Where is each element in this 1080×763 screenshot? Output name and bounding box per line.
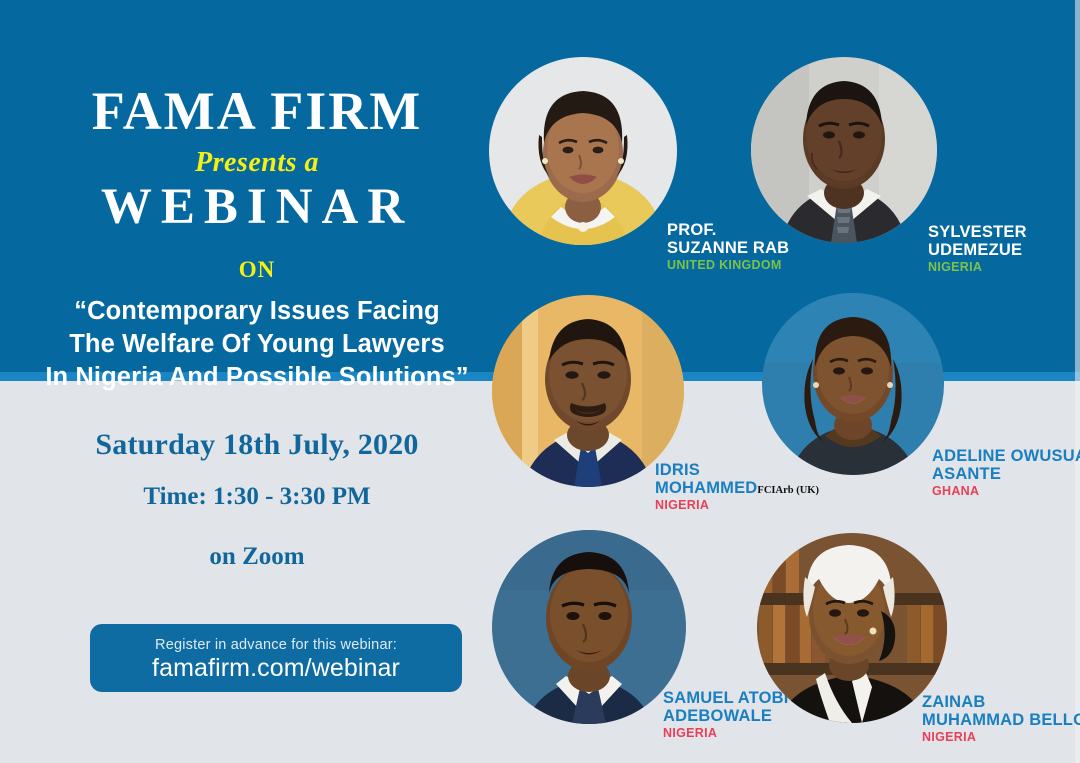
speaker-name-line2-sylvester-udemezue: UDEMEZUE [928, 242, 1027, 260]
caption-sylvester-udemezue: SYLVESTER UDEMEZUE NIGERIA [928, 224, 1027, 275]
event-type-title: WEBINAR [42, 181, 472, 235]
portrait-zainab-muhammad-bello-image [757, 533, 947, 723]
speaker-name-line2-adeline-owusua-asante: ASANTE [932, 466, 1080, 484]
portrait-adeline-owusua-asante-image [762, 293, 944, 475]
speaker-country-idris-mohammed: NIGERIA [655, 499, 819, 512]
event-date: Saturday 18th July, 2020 [42, 428, 472, 462]
webinar-topic: “Contemporary Issues Facing The Welfare … [42, 295, 472, 394]
portrait-samuel-atobi-adebowale [492, 530, 686, 724]
speaker-suffix-idris-mohammed: FCIArb (UK) [757, 485, 819, 496]
portrait-adeline-owusua-asante [762, 293, 944, 475]
speaker-name-line1-sylvester-udemezue: SYLVESTER [928, 224, 1027, 242]
speaker-name-suzanne-rab: SUZANNE RAB [667, 240, 789, 258]
speaker-country-suzanne-rab: UNITED KINGDOM [667, 259, 789, 272]
speaker-name-line2-samuel-atobi-adebowale: ADEBOWALE [663, 708, 789, 726]
portrait-suzanne-rab-image [489, 57, 677, 245]
speaker-title-suzanne-rab: PROF. [667, 222, 789, 240]
topic-line-2: The Welfare Of Young Lawyers [42, 328, 472, 361]
speaker-country-sylvester-udemezue: NIGERIA [928, 261, 1027, 274]
portrait-idris-mohammed [492, 295, 684, 487]
portrait-idris-mohammed-image [492, 295, 684, 487]
portrait-sylvester-udemezue-image [751, 57, 937, 243]
portrait-zainab-muhammad-bello [757, 533, 947, 723]
caption-zainab-muhammad-bello: ZAINAB MUHAMMAD BELLOAICMC, MILA NIGERIA [922, 694, 1080, 745]
caption-samuel-atobi-adebowale: SAMUEL ATOBI ADEBOWALE NIGERIA [663, 690, 789, 741]
caption-suzanne-rab: PROF. SUZANNE RAB UNITED KINGDOM [667, 222, 789, 273]
on-label: ON [42, 257, 472, 283]
speaker-name-line1-adeline-owusua-asante: ADELINE OWUSUA [932, 448, 1080, 466]
headline-block: FAMA FIRM Presents a WEBINAR ON “Contemp… [42, 84, 472, 394]
speaker-name-line2-zainab-muhammad-bello: MUHAMMAD BELLOAICMC, MILA [922, 712, 1080, 730]
portrait-sylvester-udemezue [751, 57, 937, 243]
register-cta-box[interactable]: Register in advance for this webinar: fa… [90, 624, 462, 692]
event-time: Time: 1:30 - 3:30 PM [42, 483, 472, 511]
register-url[interactable]: famafirm.com/webinar [90, 654, 462, 683]
event-platform: on Zoom [42, 543, 472, 571]
presents-label: Presents a [42, 147, 472, 179]
event-details-block: Saturday 18th July, 2020 Time: 1:30 - 3:… [42, 428, 472, 571]
speaker-name-line1-zainab-muhammad-bello: ZAINAB [922, 694, 1080, 712]
topic-line-3: In Nigeria And Possible Solutions” [42, 361, 472, 394]
speaker-name-line1-samuel-atobi-adebowale: SAMUEL ATOBI [663, 690, 789, 708]
caption-adeline-owusua-asante: ADELINE OWUSUA ASANTE GHANA [932, 448, 1080, 499]
speaker-name-line2-idris-mohammed: MOHAMMEDFCIArb (UK) [655, 480, 819, 498]
caption-idris-mohammed: IDRIS MOHAMMEDFCIArb (UK) NIGERIA [655, 462, 819, 513]
register-prompt: Register in advance for this webinar: [90, 637, 462, 653]
speaker-country-zainab-muhammad-bello: NIGERIA [922, 731, 1080, 744]
speaker-name-line1-idris-mohammed: IDRIS [655, 462, 819, 480]
webinar-flyer: FAMA FIRM Presents a WEBINAR ON “Contemp… [0, 0, 1080, 763]
portrait-samuel-atobi-adebowale-image [492, 530, 686, 724]
topic-line-1: “Contemporary Issues Facing [42, 295, 472, 328]
firm-name: FAMA FIRM [42, 84, 472, 139]
right-edge-strip [1075, 0, 1080, 763]
speaker-country-adeline-owusua-asante: GHANA [932, 485, 1080, 498]
speaker-country-samuel-atobi-adebowale: NIGERIA [663, 727, 789, 740]
portrait-suzanne-rab [489, 57, 677, 245]
